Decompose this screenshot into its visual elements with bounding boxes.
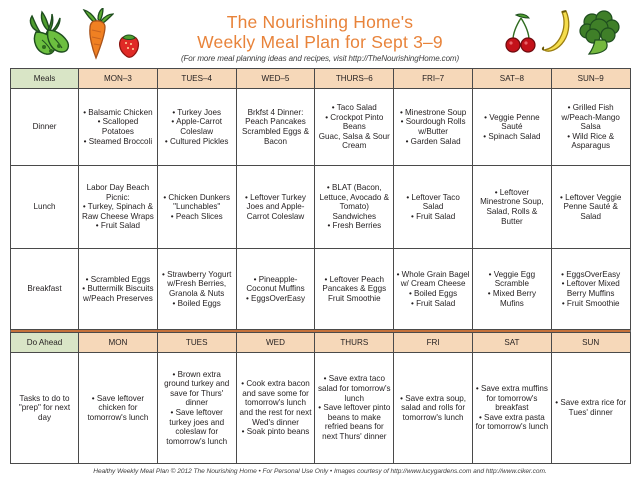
- cell-item: Scrambled Eggs: [81, 275, 155, 285]
- cell-item: Garden Salad: [396, 137, 470, 147]
- cell-tasks-fri[interactable]: Save extra soup, salad and rolls for tom…: [394, 353, 473, 464]
- row-label-lunch: Lunch: [11, 166, 79, 249]
- cell-item: Save extra muffins for tomorrow's breakf…: [475, 384, 549, 413]
- cell-item: Whole Grain Bagel w/ Cream Cheese: [396, 270, 470, 289]
- cell-item: Veggie Egg Scramble: [475, 270, 549, 289]
- cherries-icon: [504, 12, 538, 56]
- meal-plan-table: Meals MON–3 TUES–4 WED–5 THURS–6 FRI–7 S…: [10, 68, 631, 464]
- cell-tasks-sun[interactable]: Save extra rice for Tues' dinner: [551, 353, 630, 464]
- cell-item: Scrambled Eggs & Bacon: [239, 127, 313, 146]
- row-label-dinner: Dinner: [11, 89, 79, 166]
- cell-item: Save extra rice for Tues' dinner: [554, 398, 628, 417]
- cell-breakfast-sat[interactable]: Veggie Egg ScrambleMixed Berry Mufins: [472, 249, 551, 330]
- cell-breakfast-sun[interactable]: EggsOverEasyLeftover Mixed Berry Muffins…: [551, 249, 630, 330]
- cell-breakfast-wed[interactable]: Pineapple-Coconut MuffinsEggsOverEasy: [236, 249, 315, 330]
- cell-item: Balsamic Chicken: [81, 108, 155, 118]
- cell-item: Fruit Salad: [81, 221, 155, 231]
- cell-item: Brown extra ground turkey and save for T…: [160, 370, 234, 408]
- cell-item: Strawberry Yogurt w/Fresh Berries, Grano…: [160, 270, 234, 299]
- table-row-lunch: Lunch Labor Day Beach Picnic:Turkey, Spi…: [11, 166, 631, 249]
- cell-item: Apple-Carrot Coleslaw: [160, 117, 234, 136]
- cell-item: EggsOverEasy: [239, 294, 313, 304]
- broccoli-icon: [578, 8, 622, 56]
- cell-lunch-sat[interactable]: Leftover Minestrone Soup, Salad, Rolls &…: [472, 166, 551, 249]
- cell-item: Leftover Mixed Berry Muffins: [554, 279, 628, 298]
- cell-item: Save leftover pinto beans to make refrie…: [317, 403, 391, 441]
- cell-item: Pineapple-Coconut Muffins: [239, 275, 313, 294]
- cell-item: Boiled Eggs: [160, 299, 234, 309]
- cell-dinner-mon[interactable]: Balsamic ChickenScalloped PotatoesSteame…: [79, 89, 158, 166]
- header-day-fri: FRI–7: [394, 69, 473, 89]
- cell-lead-text: Brkfst 4 Dinner:: [239, 108, 313, 118]
- header-day-thurs: THURS–6: [315, 69, 394, 89]
- table-doahead-header-row: Do Ahead MON TUES WED THURS FRI SAT SUN: [11, 333, 631, 353]
- cell-item: EggsOverEasy: [554, 270, 628, 280]
- cell-lunch-sun[interactable]: Leftover Veggie Penne Sauté & Salad: [551, 166, 630, 249]
- cell-tasks-thurs[interactable]: Save extra taco salad for tomorrow's lun…: [315, 353, 394, 464]
- meal-plan-page: The Nourishing Home's Weekly Meal Plan f…: [0, 0, 640, 480]
- cell-item: Boiled Eggs: [396, 289, 470, 299]
- cell-item: Leftover Veggie Penne Sauté & Salad: [554, 193, 628, 222]
- cell-dinner-sat[interactable]: Veggie Penne SautéSpinach Salad: [472, 89, 551, 166]
- cell-item: Cultured Pickles: [160, 137, 234, 147]
- cell-item: Leftover Peach Pancakes & Eggs: [317, 275, 391, 294]
- cell-item: Scalloped Potatoes: [81, 117, 155, 136]
- header-doahead-sat: SAT: [472, 333, 551, 353]
- cell-item: Grilled Fish w/Peach-Mango Salsa: [554, 103, 628, 132]
- cell-item: Soak pinto beans: [239, 427, 313, 437]
- cell-breakfast-thurs[interactable]: Leftover Peach Pancakes & EggsFruit Smoo…: [315, 249, 394, 330]
- header-do-ahead: Do Ahead: [11, 333, 79, 353]
- cell-item: Save leftover turkey joes and coleslaw f…: [160, 408, 234, 446]
- table-row-tasks: Tasks to do to "prep" for next day Save …: [11, 353, 631, 464]
- header-art-right: [504, 8, 622, 56]
- cell-lunch-tues[interactable]: Chicken Dunkers "Lunchables"Peach Slices: [157, 166, 236, 249]
- cell-item: Fruit Salad: [396, 212, 470, 222]
- header-day-sat: SAT–8: [472, 69, 551, 89]
- cell-dinner-tues[interactable]: Turkey JoesApple-Carrot ColeslawCultured…: [157, 89, 236, 166]
- cell-item: Peach Pancakes: [239, 117, 313, 127]
- cell-item: Wild Rice & Asparagus: [554, 132, 628, 151]
- table-row-breakfast: Breakfast Scrambled EggsButtermilk Biscu…: [11, 249, 631, 330]
- cell-item: Crockpot Pinto Beans: [317, 113, 391, 132]
- row-label-tasks: Tasks to do to "prep" for next day: [11, 353, 79, 464]
- cell-tasks-wed[interactable]: Cook extra bacon and save some for tomor…: [236, 353, 315, 464]
- banana-icon: [540, 8, 576, 56]
- cell-tasks-tues[interactable]: Brown extra ground turkey and save for T…: [157, 353, 236, 464]
- cell-item: Save leftover chicken for tomorrow's lun…: [81, 394, 155, 423]
- header-doahead-sun: SUN: [551, 333, 630, 353]
- pea-pods-icon: [22, 8, 78, 60]
- header-day-tues: TUES–4: [157, 69, 236, 89]
- cell-item: Buttermilk Biscuits w/Peach Preserves: [81, 284, 155, 303]
- cell-item: Cook extra bacon and save some for tomor…: [239, 379, 313, 427]
- header-art-left: [22, 8, 142, 60]
- cell-item: Steamed Broccoli: [81, 137, 155, 147]
- cell-dinner-sun[interactable]: Grilled Fish w/Peach-Mango SalsaWild Ric…: [551, 89, 630, 166]
- cell-breakfast-mon[interactable]: Scrambled EggsButtermilk Biscuits w/Peac…: [79, 249, 158, 330]
- cell-item: Save extra pasta for tomorrow's lunch: [475, 413, 549, 432]
- table-row-dinner: Dinner Balsamic ChickenScalloped Potatoe…: [11, 89, 631, 166]
- header-doahead-mon: MON: [79, 333, 158, 353]
- cell-item: Taco Salad: [317, 103, 391, 113]
- header-day-mon: MON–3: [79, 69, 158, 89]
- cell-item: Mixed Berry Mufins: [475, 289, 549, 308]
- cell-breakfast-tues[interactable]: Strawberry Yogurt w/Fresh Berries, Grano…: [157, 249, 236, 330]
- carrot-icon: [80, 8, 114, 60]
- header-day-sun: SUN–9: [551, 69, 630, 89]
- cell-lunch-thurs[interactable]: BLAT (Bacon, Lettuce, Avocado & Tomato) …: [315, 166, 394, 249]
- cell-tasks-mon[interactable]: Save leftover chicken for tomorrow's lun…: [79, 353, 158, 464]
- cell-item: Fruit Smoothie: [554, 299, 628, 309]
- header-meals: Meals: [11, 69, 79, 89]
- cell-dinner-wed[interactable]: Brkfst 4 Dinner:Peach PancakesScrambled …: [236, 89, 315, 166]
- cell-item: Minestrone Soup: [396, 108, 470, 118]
- cell-item: Fruit Smoothie: [317, 294, 391, 304]
- cell-item: Turkey, Spinach & Raw Cheese Wraps: [81, 202, 155, 221]
- cell-item: Turkey Joes: [160, 108, 234, 118]
- cell-lunch-wed[interactable]: Leftover Turkey Joes and Apple-Carrot Co…: [236, 166, 315, 249]
- page-footer: Healthy Weekly Meal Plan © 2012 The Nour…: [10, 468, 630, 475]
- page-header: The Nourishing Home's Weekly Meal Plan f…: [10, 6, 630, 68]
- cell-item: Leftover Minestrone Soup, Salad, Rolls &…: [475, 188, 549, 226]
- strawberry-icon: [116, 30, 142, 60]
- cell-tasks-sat[interactable]: Save extra muffins for tomorrow's breakf…: [472, 353, 551, 464]
- cell-item: Leftover Taco Salad: [396, 193, 470, 212]
- header-doahead-fri: FRI: [394, 333, 473, 353]
- cell-item: Chicken Dunkers "Lunchables": [160, 193, 234, 212]
- cell-item: BLAT (Bacon, Lettuce, Avocado & Tomato) …: [317, 183, 391, 221]
- cell-item: Guac, Salsa & Sour Cream: [317, 132, 391, 151]
- cell-breakfast-fri[interactable]: Whole Grain Bagel w/ Cream CheeseBoiled …: [394, 249, 473, 330]
- cell-dinner-fri[interactable]: Minestrone SoupSourdough Rolls w/ButterG…: [394, 89, 473, 166]
- header-doahead-thurs: THURS: [315, 333, 394, 353]
- cell-item: Spinach Salad: [475, 132, 549, 142]
- row-label-breakfast: Breakfast: [11, 249, 79, 330]
- cell-lunch-mon[interactable]: Labor Day Beach Picnic:Turkey, Spinach &…: [79, 166, 158, 249]
- cell-item: Fresh Berries: [317, 221, 391, 231]
- header-day-wed: WED–5: [236, 69, 315, 89]
- cell-item: Peach Slices: [160, 212, 234, 222]
- header-doahead-tues: TUES: [157, 333, 236, 353]
- cell-item: Save extra soup, salad and rolls for tom…: [396, 394, 470, 423]
- cell-item: Fruit Salad: [396, 299, 470, 309]
- cell-item: Leftover Turkey Joes and Apple-Carrot Co…: [239, 193, 313, 222]
- cell-item: Sourdough Rolls w/Butter: [396, 117, 470, 136]
- table-header-row: Meals MON–3 TUES–4 WED–5 THURS–6 FRI–7 S…: [11, 69, 631, 89]
- cell-item: Save extra taco salad for tomorrow's lun…: [317, 374, 391, 403]
- cell-lead-text: Labor Day Beach Picnic:: [81, 183, 155, 202]
- cell-item: Veggie Penne Sauté: [475, 113, 549, 132]
- cell-lunch-fri[interactable]: Leftover Taco SaladFruit Salad: [394, 166, 473, 249]
- header-doahead-wed: WED: [236, 333, 315, 353]
- cell-dinner-thurs[interactable]: Taco SaladCrockpot Pinto BeansGuac, Sals…: [315, 89, 394, 166]
